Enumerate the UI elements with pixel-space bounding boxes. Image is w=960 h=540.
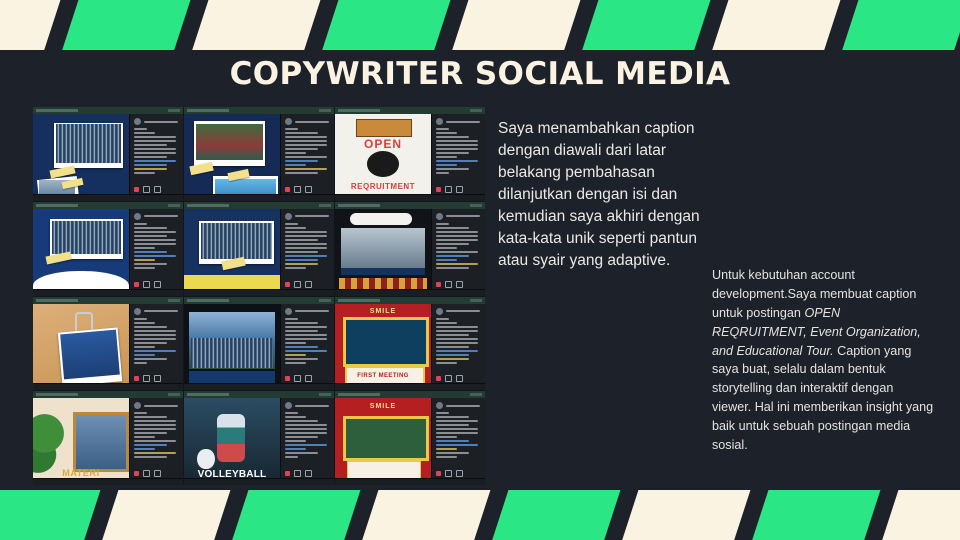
caption-line [436, 448, 457, 450]
top-stripe-band [0, 0, 960, 50]
action-icon[interactable] [305, 281, 312, 288]
caption-line [436, 239, 478, 241]
poster-text: REQRUITMENT [335, 182, 431, 191]
post-artwork [33, 304, 129, 391]
action-icon[interactable] [305, 375, 312, 382]
caption-line [436, 152, 469, 154]
author-name-line [295, 310, 329, 312]
screenshot-cell[interactable] [33, 297, 183, 391]
post-action-row[interactable] [436, 186, 463, 193]
caption-line [285, 338, 327, 340]
screenshot-cell[interactable]: OPENREQRUITMENT [335, 107, 485, 201]
post-artwork: MATERI [33, 398, 129, 485]
stripe-cream [617, 490, 755, 540]
caption-line [134, 346, 155, 348]
post-action-row[interactable] [134, 470, 161, 477]
caption-line [436, 140, 478, 142]
action-icon[interactable] [154, 470, 161, 477]
screenshot-cell[interactable] [184, 107, 334, 201]
action-icon[interactable] [445, 470, 452, 477]
stripe-cream [357, 490, 495, 540]
caption-line [436, 251, 478, 253]
screenshot-body [33, 114, 183, 201]
screenshot-cell[interactable]: VOLLEYBALL [184, 391, 334, 485]
post-action-row[interactable] [436, 375, 463, 382]
caption-line [134, 247, 155, 249]
post-media: OPENREQRUITMENT [335, 114, 431, 201]
post-caption-panel [431, 304, 485, 391]
caption-line [285, 148, 318, 150]
avatar [436, 118, 443, 125]
artwork-element [56, 124, 121, 162]
caption-line [285, 223, 298, 225]
caption-line [134, 172, 155, 174]
avatar [285, 118, 292, 125]
page-title: COPYWRITER SOCIAL MEDIA [0, 56, 960, 92]
caption-line [436, 172, 449, 174]
screenshot-taskbar [184, 383, 334, 390]
author-name-line [446, 405, 480, 407]
action-icon[interactable] [143, 375, 150, 382]
caption-line [436, 156, 457, 158]
avatar [134, 402, 141, 409]
caption-line [285, 358, 318, 360]
post-caption-panel [280, 304, 334, 391]
stripe-green [227, 490, 365, 540]
avatar [285, 402, 292, 409]
post-artwork [184, 209, 280, 296]
action-icon[interactable] [445, 281, 452, 288]
caption-line [285, 168, 327, 170]
caption-line [285, 440, 306, 442]
action-icon[interactable] [154, 281, 161, 288]
poster-text: OPEN [335, 137, 431, 151]
post-artwork: SMILEFIRST MEETING [335, 304, 431, 391]
screenshot-taskbar [184, 478, 334, 485]
post-action-row[interactable] [285, 470, 312, 477]
caption-line [436, 243, 469, 245]
stripe-cream [0, 0, 65, 50]
screenshot-taskbar [335, 478, 485, 485]
post-caption-panel [129, 398, 183, 485]
caption-line [134, 267, 155, 269]
artwork-element [356, 119, 412, 137]
post-caption-panel [129, 209, 183, 296]
post-media: SMILEFIRST MEETING [335, 304, 431, 391]
caption-line [285, 436, 318, 438]
caption-line [436, 235, 478, 237]
artwork-element [343, 317, 430, 366]
screenshot-body: MATERI [33, 398, 183, 485]
caption-line [285, 140, 327, 142]
caption-line [436, 132, 457, 134]
screenshot-body [33, 304, 183, 391]
stripe-green [577, 0, 715, 50]
caption-line [134, 416, 167, 418]
action-icon[interactable] [445, 375, 452, 382]
post-artwork: OPENREQRUITMENT [335, 114, 431, 201]
caption-line [285, 448, 306, 450]
side-paragraph: Untuk kebutuhan account development.Saya… [712, 266, 934, 455]
screenshot-taskbar [184, 194, 334, 201]
screenshot-cell[interactable] [184, 297, 334, 391]
caption-line [436, 144, 478, 146]
caption-line [134, 128, 147, 130]
artwork-element [341, 268, 425, 275]
stripe-cream [877, 490, 960, 540]
post-author-row [134, 213, 180, 220]
caption-line [134, 259, 155, 261]
screenshot-taskbar [33, 383, 183, 390]
action-icon[interactable] [305, 186, 312, 193]
caption-line [436, 444, 478, 446]
post-action-row[interactable] [134, 375, 161, 382]
artwork-element [339, 278, 427, 288]
like-icon[interactable] [134, 471, 139, 476]
action-icon[interactable] [456, 375, 463, 382]
screenshot-cell[interactable]: SMILEFIRST MEETING [335, 297, 485, 391]
avatar [285, 213, 292, 220]
caption-line [134, 132, 155, 134]
screenshot-body [184, 209, 334, 296]
post-artwork: SMILE [335, 398, 431, 485]
action-icon[interactable] [143, 470, 150, 477]
caption-line [436, 148, 478, 150]
stripe-cream [447, 0, 585, 50]
post-author-row [436, 118, 482, 125]
artwork-element [367, 151, 400, 177]
caption-line [285, 428, 327, 430]
caption-line [285, 160, 318, 162]
post-media: SMILE [335, 398, 431, 485]
like-icon[interactable] [285, 187, 290, 192]
like-icon[interactable] [285, 471, 290, 476]
caption-line [436, 342, 478, 344]
post-author-row [436, 402, 482, 409]
caption-line [285, 144, 327, 146]
post-author-row [285, 213, 331, 220]
author-name-line [295, 215, 329, 217]
post-action-row[interactable] [436, 470, 463, 477]
caption-line [436, 362, 457, 364]
post-action-row[interactable] [134, 281, 161, 288]
post-author-row [134, 118, 180, 125]
caption-line [134, 444, 167, 446]
post-artwork [184, 304, 280, 391]
artwork-element [191, 338, 274, 367]
caption-line [134, 342, 167, 344]
screenshot-body [184, 114, 334, 201]
screenshot-cell[interactable] [184, 202, 334, 296]
caption-line [134, 243, 176, 245]
caption-line [436, 350, 478, 352]
caption-line [134, 148, 176, 150]
screenshot-body [335, 209, 485, 296]
caption-line [134, 239, 176, 241]
caption-line [134, 358, 167, 360]
post-artwork: VOLLEYBALL [184, 398, 280, 485]
artwork-element [201, 223, 272, 259]
post-action-row[interactable] [134, 186, 161, 193]
action-icon[interactable] [154, 186, 161, 193]
caption-line [285, 350, 327, 352]
caption-line [285, 152, 306, 154]
stripe-green [487, 490, 625, 540]
caption-line [436, 452, 469, 454]
caption-line [436, 432, 478, 434]
caption-line [134, 223, 147, 225]
action-icon[interactable] [154, 375, 161, 382]
post-media [184, 304, 280, 391]
poster-text: SMILE [335, 403, 431, 410]
like-icon[interactable] [436, 376, 441, 381]
caption-line [436, 263, 478, 265]
caption-line [436, 267, 469, 269]
action-icon[interactable] [143, 281, 150, 288]
caption-line [134, 338, 176, 340]
caption-line [134, 436, 155, 438]
post-media [33, 114, 129, 201]
caption-line [134, 263, 167, 265]
caption-line [134, 354, 155, 356]
stripe-green [837, 0, 960, 50]
caption-line [436, 424, 469, 426]
post-action-row[interactable] [285, 375, 312, 382]
screenshot-cell[interactable] [335, 202, 485, 296]
caption-line [134, 424, 176, 426]
screenshot-cell[interactable] [33, 107, 183, 201]
screenshot-taskbar [335, 289, 485, 296]
author-name-line [144, 215, 178, 217]
action-icon[interactable] [456, 281, 463, 288]
caption-line [285, 255, 327, 257]
caption-line [134, 168, 167, 170]
caption-line [436, 164, 457, 166]
caption-line [285, 263, 318, 265]
post-artwork [33, 114, 129, 201]
post-caption-panel [280, 114, 334, 201]
caption-line [436, 326, 478, 328]
caption-line [285, 424, 327, 426]
caption-line [285, 164, 306, 166]
caption-line [134, 362, 147, 364]
post-media: VOLLEYBALL [184, 398, 280, 485]
like-icon[interactable] [134, 376, 139, 381]
avatar [285, 308, 292, 315]
author-name-line [446, 310, 480, 312]
screenshot-grid: OPENREQRUITMENTSMILEFIRST MEETINGMATERIV… [33, 107, 485, 485]
artwork-element [73, 412, 129, 472]
caption-line [134, 330, 176, 332]
post-author-row [134, 402, 180, 409]
action-icon[interactable] [294, 375, 301, 382]
screenshot-cell[interactable]: MATERI [33, 391, 183, 485]
caption-line [285, 227, 306, 229]
caption-line [285, 267, 306, 269]
like-icon[interactable] [134, 282, 139, 287]
author-name-line [295, 405, 329, 407]
like-icon[interactable] [285, 376, 290, 381]
caption-line [436, 223, 449, 225]
avatar [436, 402, 443, 409]
caption-line [134, 456, 167, 458]
screenshot-taskbar [33, 478, 183, 485]
caption-line [436, 420, 478, 422]
poster-text: SMILE [335, 308, 431, 315]
screenshot-body [33, 209, 183, 296]
action-icon[interactable] [305, 470, 312, 477]
caption-line [285, 156, 327, 158]
action-icon[interactable] [294, 281, 301, 288]
artwork-element [350, 213, 411, 225]
caption-line [285, 330, 318, 332]
stripe-green [57, 0, 195, 50]
caption-line [285, 444, 327, 446]
screenshot-body: SMILEFIRST MEETING [335, 304, 485, 391]
caption-line [285, 172, 318, 174]
action-icon[interactable] [143, 186, 150, 193]
caption-line [436, 259, 457, 261]
action-icon[interactable] [294, 186, 301, 193]
caption-line [285, 318, 298, 320]
avatar [436, 308, 443, 315]
artwork-element [52, 221, 121, 254]
post-media [184, 209, 280, 296]
action-icon[interactable] [445, 186, 452, 193]
stripe-green [317, 0, 455, 50]
artwork-element [189, 371, 275, 383]
caption-line [134, 440, 176, 442]
caption-line [285, 420, 318, 422]
post-author-row [134, 308, 180, 315]
caption-line [285, 235, 327, 237]
post-artwork [335, 209, 431, 296]
author-name-line [144, 310, 178, 312]
like-icon[interactable] [436, 471, 441, 476]
action-icon[interactable] [294, 470, 301, 477]
like-icon[interactable] [134, 187, 139, 192]
post-artwork [184, 114, 280, 201]
caption-line [134, 251, 167, 253]
caption-line [285, 416, 306, 418]
caption-line [436, 440, 469, 442]
caption-line [436, 412, 449, 414]
post-author-row [285, 118, 331, 125]
post-media [33, 304, 129, 391]
caption-line [436, 358, 469, 360]
caption-line [134, 255, 176, 257]
post-caption-panel [431, 398, 485, 485]
bottom-stripe-band [0, 490, 960, 540]
caption-line [436, 247, 457, 249]
caption-line [134, 420, 176, 422]
caption-line [285, 326, 327, 328]
caption-line [436, 338, 478, 340]
artwork-element [343, 416, 430, 462]
post-caption-panel [431, 114, 485, 201]
caption-line [285, 128, 298, 130]
caption-line [285, 251, 318, 253]
post-caption-panel [129, 304, 183, 391]
slide-root: COPYWRITER SOCIAL MEDIA OPENREQRUITMENTS… [0, 0, 960, 540]
avatar [134, 213, 141, 220]
caption-line [134, 326, 167, 328]
screenshot-body: VOLLEYBALL [184, 398, 334, 485]
caption-line [436, 330, 478, 332]
caption-line [134, 227, 167, 229]
main-paragraph: Saya menambahkan caption dengan diawali … [498, 118, 708, 272]
author-name-line [144, 121, 178, 123]
caption-line [285, 334, 327, 336]
caption-line [134, 432, 167, 434]
action-icon[interactable] [456, 470, 463, 477]
caption-line [436, 160, 478, 162]
caption-line [436, 128, 449, 130]
like-icon[interactable] [285, 282, 290, 287]
stripe-cream [187, 0, 325, 50]
caption-line [134, 231, 176, 233]
caption-line [436, 346, 469, 348]
post-caption-panel [280, 209, 334, 296]
caption-line [285, 259, 318, 261]
post-caption-panel [431, 209, 485, 296]
caption-line [436, 416, 469, 418]
caption-line [134, 152, 176, 154]
avatar [134, 308, 141, 315]
caption-line [134, 350, 176, 352]
screenshot-cell[interactable] [33, 202, 183, 296]
author-name-line [446, 121, 480, 123]
caption-line [436, 354, 469, 356]
post-media [33, 209, 129, 296]
author-name-line [295, 121, 329, 123]
action-icon[interactable] [456, 186, 463, 193]
screenshot-taskbar [184, 289, 334, 296]
caption-line [436, 136, 469, 138]
caption-line [436, 255, 469, 257]
post-action-row[interactable] [285, 186, 312, 193]
caption-line [134, 136, 176, 138]
post-action-row[interactable] [285, 281, 312, 288]
screenshot-taskbar [335, 194, 485, 201]
caption-line [285, 231, 327, 233]
post-action-row[interactable] [436, 281, 463, 288]
caption-line [134, 164, 167, 166]
caption-line [285, 243, 327, 245]
author-name-line [144, 405, 178, 407]
screenshot-body: SMILE [335, 398, 485, 485]
caption-line [285, 322, 318, 324]
stripe-cream [97, 490, 235, 540]
screenshot-body [184, 304, 334, 391]
caption-line [285, 432, 327, 434]
caption-line [285, 452, 318, 454]
post-author-row [285, 402, 331, 409]
caption-line [436, 428, 478, 430]
like-icon[interactable] [436, 282, 441, 287]
like-icon[interactable] [436, 187, 441, 192]
screenshot-taskbar [33, 289, 183, 296]
caption-line [285, 354, 306, 356]
screenshot-taskbar [335, 383, 485, 390]
caption-line [134, 318, 147, 320]
screenshot-cell[interactable]: SMILE [335, 391, 485, 485]
stripe-green [747, 490, 885, 540]
caption-line [134, 140, 176, 142]
caption-line [436, 436, 457, 438]
post-media [184, 114, 280, 201]
post-artwork [33, 209, 129, 296]
